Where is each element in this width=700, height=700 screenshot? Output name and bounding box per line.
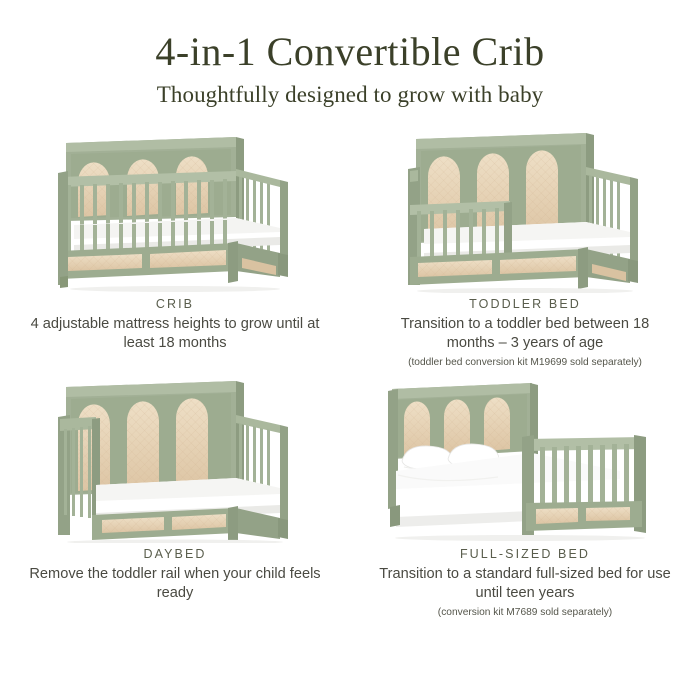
caption-daybed: DAYBED Remove the toddler rail when your… — [25, 547, 325, 607]
mode-label: CRIB — [25, 297, 325, 311]
daybed-illustration — [30, 375, 320, 543]
crib-illustration — [30, 125, 320, 293]
mode-label: FULL-SIZED BED — [375, 547, 675, 561]
mode-cell-toddler-bed: TODDLER BED Transition to a toddler bed … — [350, 125, 700, 375]
mode-note: (conversion kit M7689 sold separately) — [375, 606, 675, 619]
daybed-headboard — [66, 381, 236, 495]
caption-crib: CRIB 4 adjustable mattress heights to gr… — [25, 297, 325, 357]
mode-label: DAYBED — [25, 547, 325, 561]
page-subtitle: Thoughtfully designed to grow with baby — [0, 81, 700, 109]
caption-full-sized-bed: FULL-SIZED BED Transition to a standard … — [375, 547, 675, 620]
mode-description: Transition to a standard full-sized bed … — [375, 565, 675, 604]
caption-toddler-bed: TODDLER BED Transition to a toddler bed … — [375, 297, 675, 370]
mode-label: TODDLER BED — [375, 297, 675, 311]
header: 4-in-1 Convertible Crib Thoughtfully des… — [0, 0, 700, 109]
conversion-modes-grid: CRIB 4 adjustable mattress heights to gr… — [0, 125, 700, 625]
page-title: 4-in-1 Convertible Crib — [0, 30, 700, 74]
toddler-bed-illustration — [380, 125, 670, 293]
mode-cell-full-sized-bed: FULL-SIZED BED Transition to a standard … — [350, 375, 700, 625]
mode-cell-crib: CRIB 4 adjustable mattress heights to gr… — [0, 125, 350, 375]
mode-description: Remove the toddler rail when your child … — [25, 565, 325, 604]
mode-cell-daybed: DAYBED Remove the toddler rail when your… — [0, 375, 350, 625]
mode-description: Transition to a toddler bed between 18 m… — [375, 315, 675, 354]
full-sized-bed-illustration — [380, 375, 670, 543]
mode-description: 4 adjustable mattress heights to grow un… — [25, 315, 325, 354]
mode-note: (toddler bed conversion kit M19699 sold … — [375, 356, 675, 369]
infographic-page: 4-in-1 Convertible Crib Thoughtfully des… — [0, 0, 700, 700]
